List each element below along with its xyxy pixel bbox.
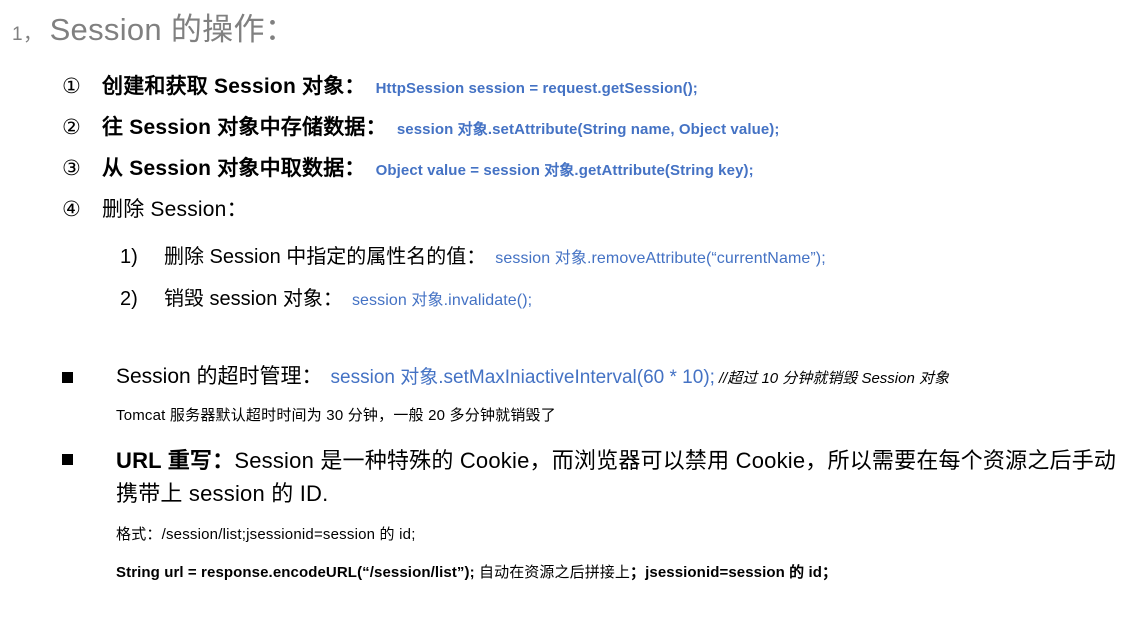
numbered-list: ① 创建和获取 Session 对象： HttpSession session … xyxy=(62,70,1132,234)
list-item: ① 创建和获取 Session 对象： HttpSession session … xyxy=(62,70,1132,111)
url-code-line: String url = response.encodeURL(“/sessio… xyxy=(116,561,1134,582)
timeout-label: Session 的超时管理： xyxy=(116,365,323,388)
list-code-2: session 对象.setAttribute(String name, Obj… xyxy=(397,118,780,139)
page-title: 1， Session 的操作： xyxy=(12,4,296,49)
list-label-4: 删除 Session： xyxy=(102,193,248,223)
sub-marker-1: 1) xyxy=(120,246,164,269)
timeout-comment: //超过 10 分钟就销毁 Session 对象 xyxy=(719,370,949,387)
timeout-heading: Session 的超时管理：session 对象.setMaxIniactive… xyxy=(116,362,1134,394)
list-marker-2: ② xyxy=(62,117,102,138)
sub-label-2: 销毁 session 对象： xyxy=(164,282,343,311)
list-code-1: HttpSession session = request.getSession… xyxy=(376,80,698,97)
url-code-bold-end: ；jsessionid=session 的 id； xyxy=(630,564,837,581)
url-format-line: 格式：/session/list;jsessionid=session 的 id… xyxy=(116,523,1134,544)
url-rewrite-title: URL 重写： xyxy=(116,448,234,473)
list-marker-1: ① xyxy=(62,76,102,97)
list-item: ③ 从 Session 对象中取数据： Object value = sessi… xyxy=(62,152,1132,193)
url-rewrite-heading: URL 重写：Session 是一种特殊的 Cookie，而浏览器可以禁用 Co… xyxy=(116,444,1134,510)
url-code-normal-mid: 自动在资源之后拼接上 xyxy=(479,564,630,581)
timeout-block: Session 的超时管理：session 对象.setMaxIniactive… xyxy=(62,362,1134,425)
sub-code-1: session 对象.removeAttribute(“currentName”… xyxy=(495,244,826,268)
list-item: 1) 删除 Session 中指定的属性名的值： session 对象.remo… xyxy=(120,240,1130,282)
page-title-number: 1， xyxy=(12,19,43,46)
list-marker-3: ③ xyxy=(62,158,102,179)
list-marker-4: ④ xyxy=(62,199,102,220)
list-item: 2) 销毁 session 对象： session 对象.invalidate(… xyxy=(120,282,1130,324)
timeout-code: session 对象.setMaxIniactiveInterval(60 * … xyxy=(331,367,715,388)
list-label-1: 创建和获取 Session 对象： xyxy=(102,70,366,100)
url-rewrite-block: URL 重写：Session 是一种特殊的 Cookie，而浏览器可以禁用 Co… xyxy=(62,444,1134,582)
square-bullet-icon xyxy=(62,362,116,392)
square-bullet-icon xyxy=(62,444,116,474)
url-code-bold-start: String url = response.encodeURL(“/sessio… xyxy=(116,564,475,581)
list-label-3: 从 Session 对象中取数据： xyxy=(102,152,366,182)
list-item: ④ 删除 Session： xyxy=(62,193,1132,234)
list-item: ② 往 Session 对象中存储数据： session 对象.setAttri… xyxy=(62,111,1132,152)
list-label-2: 往 Session 对象中存储数据： xyxy=(102,111,387,141)
slide-canvas: 1， Session 的操作： ① 创建和获取 Session 对象： Http… xyxy=(0,0,1142,630)
sub-code-2: session 对象.invalidate(); xyxy=(352,286,532,310)
sub-list: 1) 删除 Session 中指定的属性名的值： session 对象.remo… xyxy=(120,240,1130,324)
sub-marker-2: 2) xyxy=(120,288,164,311)
page-title-text: Session 的操作： xyxy=(50,4,297,49)
list-code-3: Object value = session 对象.getAttribute(S… xyxy=(376,159,754,180)
sub-label-1: 删除 Session 中指定的属性名的值： xyxy=(164,240,486,269)
url-rewrite-description: Session 是一种特殊的 Cookie，而浏览器可以禁用 Cookie，所以… xyxy=(116,448,1116,506)
timeout-note: Tomcat 服务器默认超时时间为 30 分钟，一般 20 多分钟就销毁了 xyxy=(116,404,1134,425)
